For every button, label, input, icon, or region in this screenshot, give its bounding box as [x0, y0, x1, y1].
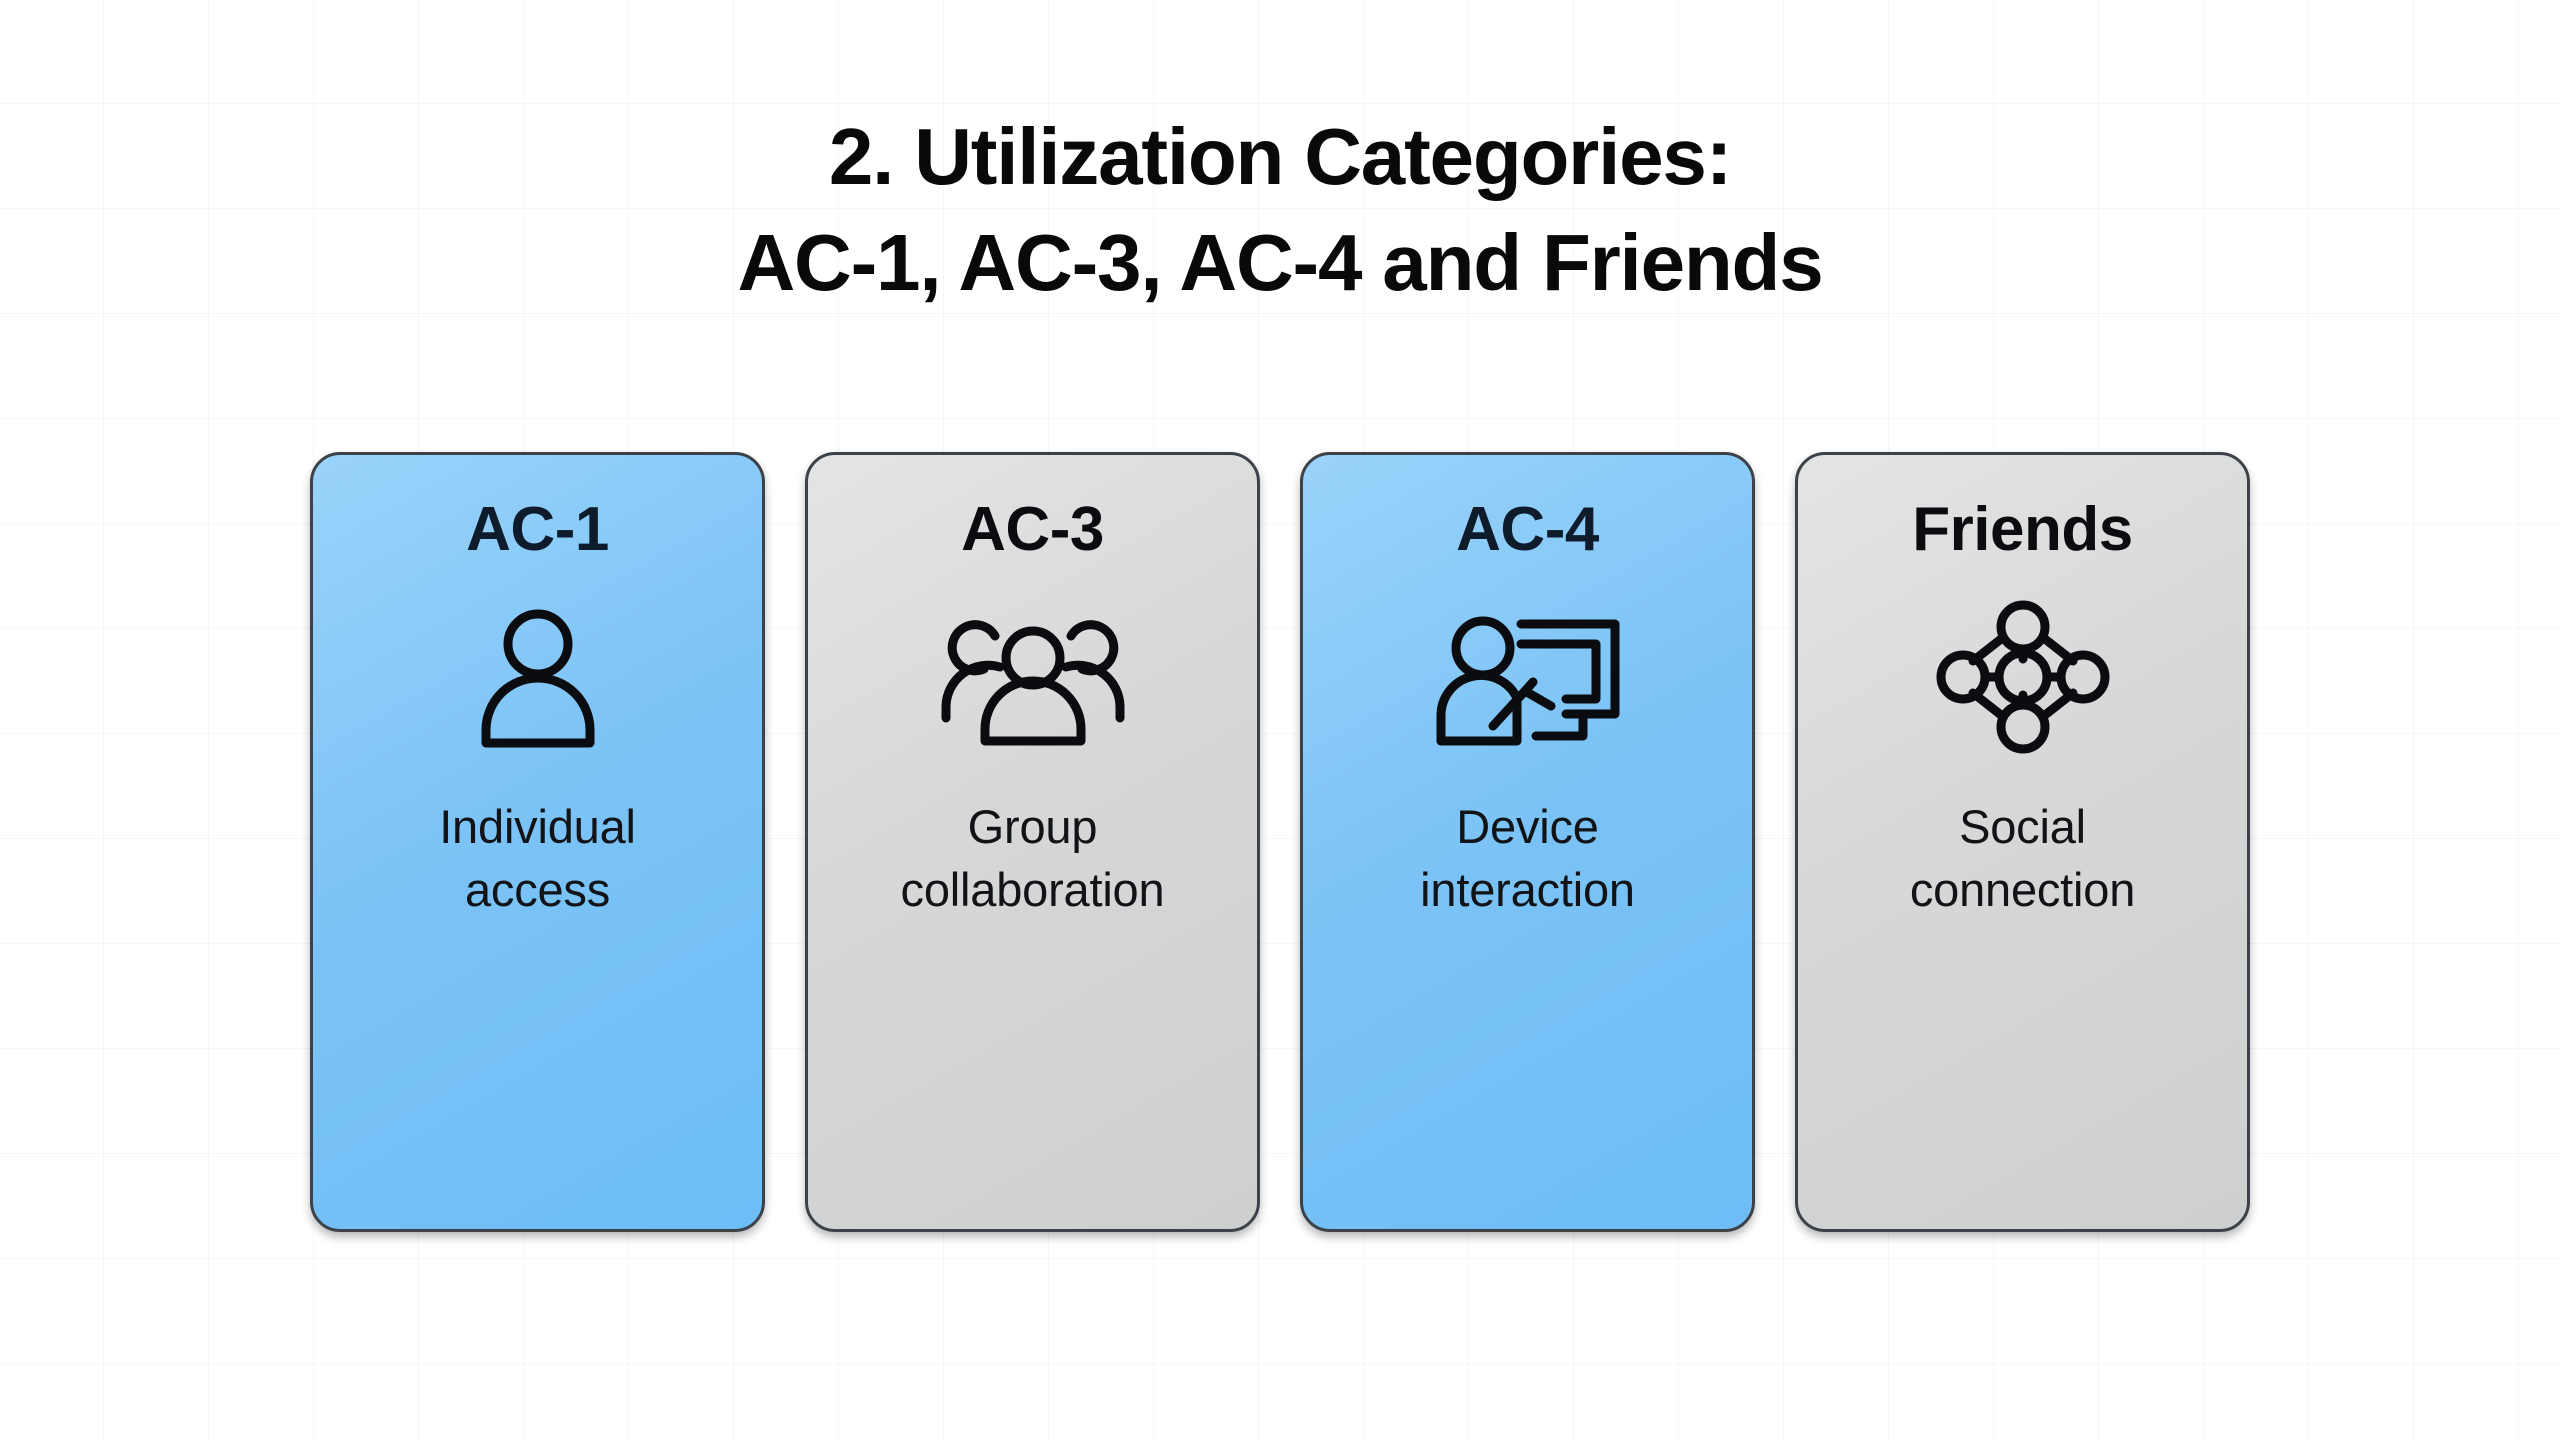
- single-person-icon: [438, 601, 638, 751]
- category-cards-row: AC-1 Individual access AC-3: [310, 452, 2250, 1232]
- card-caption-line-2: connection: [1910, 858, 2135, 921]
- category-card-ac-3[interactable]: AC-3 Group collaboration: [805, 452, 1260, 1232]
- card-caption-line-2: interaction: [1420, 858, 1635, 921]
- card-caption-line-1: Device: [1420, 795, 1635, 858]
- category-card-ac-4[interactable]: AC-4 Device interaction: [1300, 452, 1755, 1232]
- category-card-friends[interactable]: Friends Social: [1795, 452, 2250, 1232]
- card-caption-line-1: Social: [1910, 795, 2135, 858]
- page-title: 2. Utilization Categories: AC-1, AC-3, A…: [0, 104, 2560, 315]
- category-card-ac-1[interactable]: AC-1 Individual access: [310, 452, 765, 1232]
- card-heading: AC-3: [961, 499, 1104, 561]
- card-caption-line-1: Group: [901, 795, 1165, 858]
- card-caption-line-2: collaboration: [901, 858, 1165, 921]
- card-caption-line-1: Individual: [439, 795, 636, 858]
- network-nodes-icon: [1923, 601, 2123, 751]
- card-caption: Social connection: [1910, 795, 2135, 922]
- card-caption: Group collaboration: [901, 795, 1165, 922]
- page-title-line-2: AC-1, AC-3, AC-4 and Friends: [0, 210, 2560, 316]
- card-caption-line-2: access: [439, 858, 636, 921]
- page-title-line-1: 2. Utilization Categories:: [0, 104, 2560, 210]
- card-heading: Friends: [1912, 499, 2132, 561]
- card-heading: AC-1: [466, 499, 609, 561]
- person-with-monitor-icon: [1428, 601, 1628, 751]
- card-heading: AC-4: [1456, 499, 1599, 561]
- card-caption: Individual access: [439, 795, 636, 922]
- group-of-people-icon: [933, 601, 1133, 751]
- card-caption: Device interaction: [1420, 795, 1635, 922]
